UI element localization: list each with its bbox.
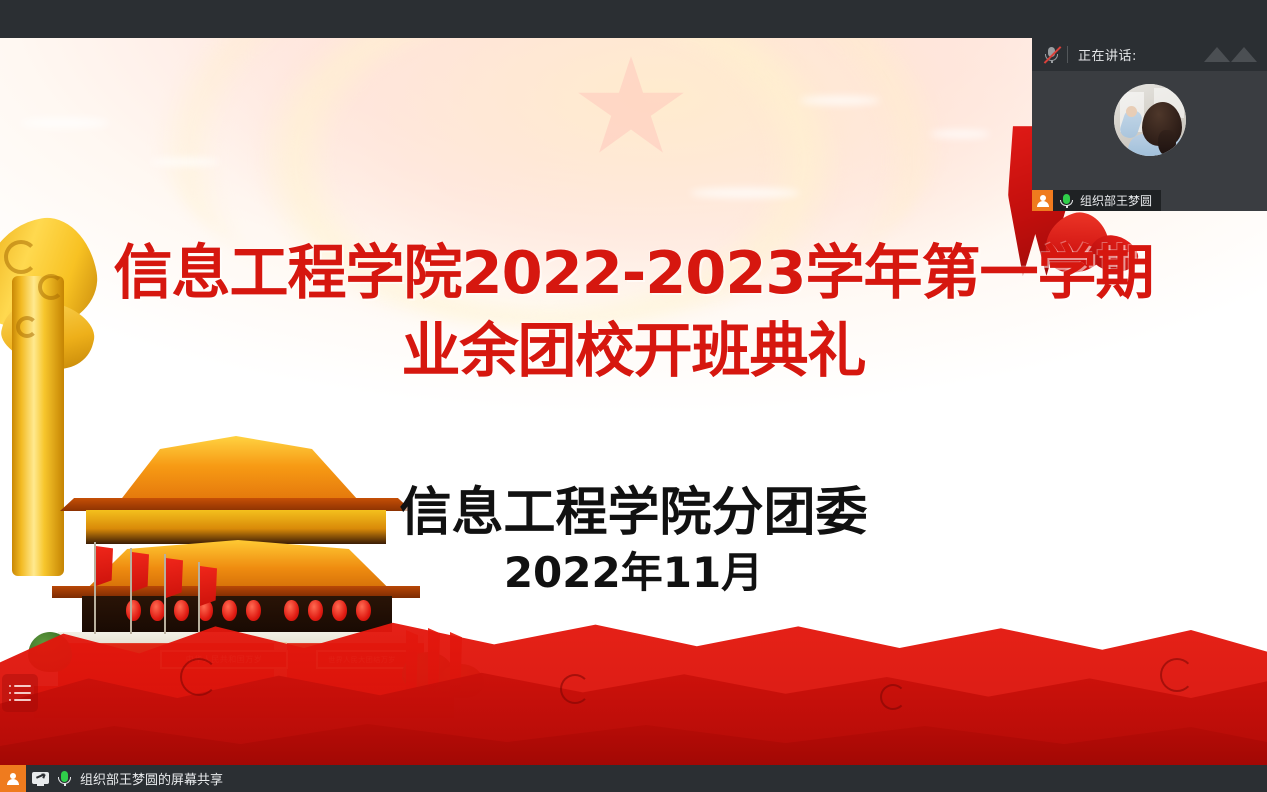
slide-title: 信息工程学院2022-2023学年第一学期 业余团校开班典礼 [0,234,1267,390]
cloud-swirl [880,684,906,710]
cloud-swirl [560,674,590,704]
header-divider [1067,46,1068,63]
app-root: 中华人民共和国万岁 世界人民大团结万岁 信息工程 [0,0,1267,792]
double-chevron-icon[interactable] [1204,47,1257,62]
participant-name: 组织部王梦圆 [1078,192,1161,209]
person-icon [1032,190,1053,211]
cloud-swirl [1160,658,1194,692]
cloud-wisp [800,96,880,105]
screen-share-status-bar: 组织部王梦圆的屏幕共享 [0,765,1267,792]
screen-share-icon [31,765,51,792]
avatar [1114,84,1186,156]
list-menu-icon[interactable] [2,674,38,712]
top-chrome-bar [0,0,1267,38]
microphone-on-icon [55,765,73,792]
person-icon [0,765,26,792]
participant-name-badge: 组织部王梦圆 [1032,190,1161,211]
speaker-panel-header: 正在讲话: [1032,38,1267,71]
microphone-on-icon [1058,190,1075,211]
screen-share-status-text: 组织部王梦圆的屏幕共享 [80,769,223,788]
slide-title-line1: 信息工程学院2022-2023学年第一学期 [114,238,1154,307]
cloud-wisp [690,188,800,198]
cloud-wisp [930,130,990,138]
cloud-wisp [20,118,110,128]
slide-title-line2: 业余团校开班典礼 [0,312,1267,390]
speaker-video-body[interactable]: 组织部王梦圆 [1032,71,1267,211]
cloud-swirl [180,658,218,696]
microphone-muted-icon [1042,45,1061,64]
slide-date: 2022年11月 [0,546,1267,600]
slide-subtitle: 信息工程学院分团委 [0,481,1267,545]
cloud-wisp [150,158,220,166]
speaking-label: 正在讲话: [1078,45,1137,64]
